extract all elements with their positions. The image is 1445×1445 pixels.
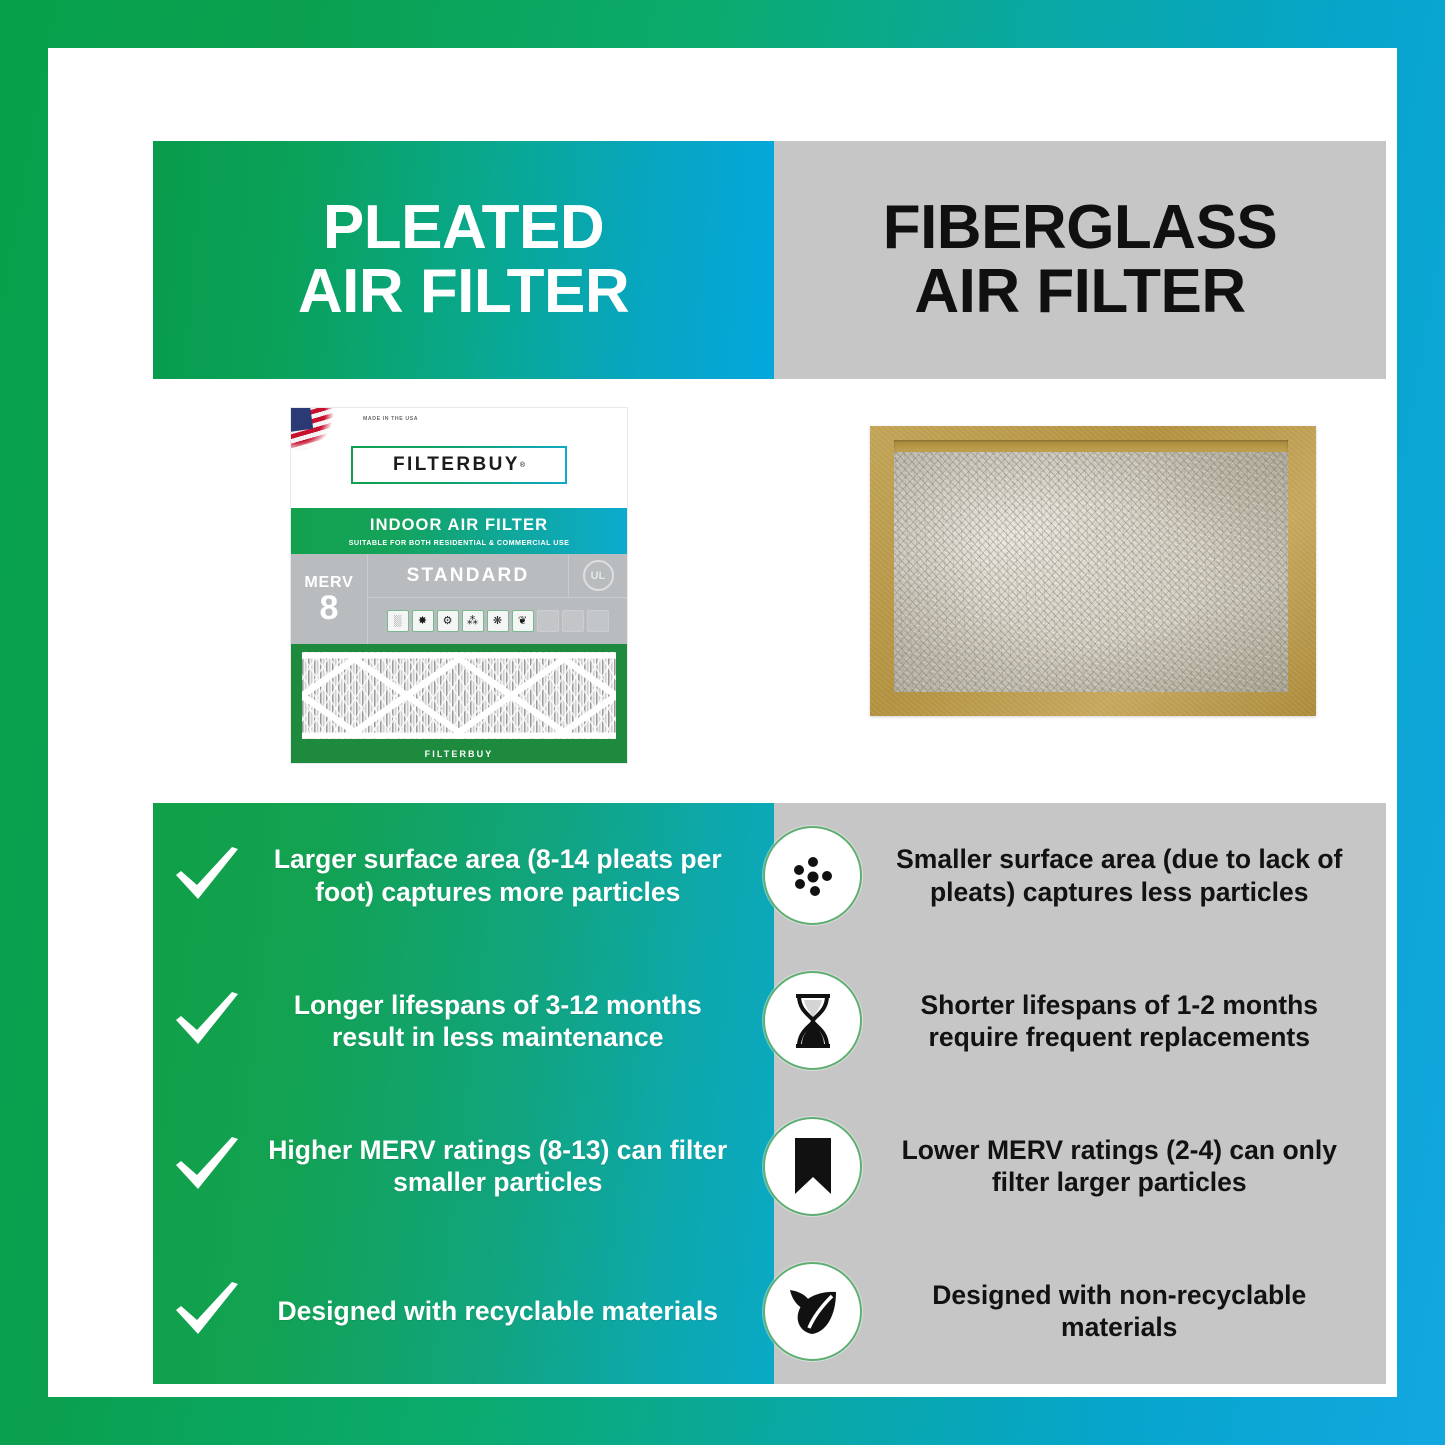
household-dust-icon: ░ — [387, 610, 409, 632]
row-icon-cell — [755, 1262, 871, 1361]
checkmark-icon — [172, 990, 242, 1052]
odor-icon: ♩ — [587, 610, 609, 632]
row-icon-cell — [755, 1117, 871, 1216]
pleat-texture — [302, 652, 616, 739]
hourglass-icon — [763, 971, 862, 1070]
fiberglass-media — [894, 452, 1288, 692]
checkmark-cell — [153, 1280, 261, 1342]
row-icon-cell — [755, 826, 871, 925]
white-canvas: PLEATED AIR FILTER FIBERGLASS AIR FILTER… — [48, 48, 1397, 1397]
merv-value: 8 — [320, 592, 339, 624]
fiberglass-drawback-text: Designed with non-recyclable materials — [871, 1279, 1387, 1344]
usa-flag-icon — [291, 408, 354, 454]
grade-label: STANDARD — [407, 565, 530, 587]
bacteria-icon: ⚙ — [437, 610, 459, 632]
checkmark-cell — [153, 1135, 261, 1197]
pleated-filter-box-image: MADE IN THE USA FILTERBUY® INDOOR AIR FI… — [291, 408, 627, 763]
indoor-air-filter-band: INDOOR AIR FILTER SUITABLE FOR BOTH RESI… — [291, 508, 627, 554]
comparison-row: Larger surface area (8-14 pleats per foo… — [153, 803, 1386, 948]
fiberglass-drawback-text: Lower MERV ratings (2-4) can only filter… — [871, 1134, 1387, 1199]
checkmark-cell — [153, 845, 261, 907]
bookmark-ribbon-icon — [763, 1117, 862, 1216]
bacteria-virus-icon: ❂ — [562, 610, 584, 632]
header-pleated-panel: PLEATED AIR FILTER — [153, 141, 774, 379]
checkmark-icon — [172, 1135, 242, 1197]
comparison-header: PLEATED AIR FILTER FIBERGLASS AIR FILTER — [153, 141, 1386, 379]
product-images-row: MADE IN THE USA FILTERBUY® INDOOR AIR FI… — [153, 379, 1386, 803]
infographic-content: PLEATED AIR FILTER FIBERGLASS AIR FILTER… — [153, 141, 1386, 1384]
cardboard-top-lip — [894, 440, 1288, 452]
leaf-icon — [763, 1262, 862, 1361]
row-icon-cell — [755, 971, 871, 1070]
smoke-icon: ⁂ — [462, 610, 484, 632]
smog-icon: ☁ — [537, 610, 559, 632]
band-secondary-text: SUITABLE FOR BOTH RESIDENTIAL & COMMERCI… — [349, 538, 570, 547]
brand-plate: FILTERBUY® — [351, 446, 567, 484]
pleated-media-window: FILTERBUY — [291, 644, 627, 763]
flag-canton — [291, 408, 313, 432]
pet-dander-icon: ❦ — [512, 610, 534, 632]
made-in-usa-label: MADE IN THE USA — [363, 416, 418, 424]
header-pleated-title: PLEATED AIR FILTER — [298, 196, 629, 325]
grade-cell: STANDARD — [368, 554, 569, 598]
trademark-symbol: ® — [520, 462, 525, 469]
box-footer-brand: FILTERBUY — [291, 749, 627, 759]
fiberglass-drawback-text: Shorter lifespans of 1-2 months require … — [871, 989, 1387, 1054]
lint-icon: ❋ — [487, 610, 509, 632]
comparison-row: Longer lifespans of 3-12 months result i… — [153, 948, 1386, 1093]
checkmark-icon — [172, 845, 242, 907]
box-top-section: MADE IN THE USA FILTERBUY® — [291, 408, 627, 508]
header-fiberglass-title: FIBERGLASS AIR FILTER — [883, 196, 1278, 325]
certification-cell: UL — [569, 554, 627, 598]
band-primary-text: INDOOR AIR FILTER — [370, 516, 548, 535]
checkmark-cell — [153, 990, 261, 1052]
comparison-rows: Larger surface area (8-14 pleats per foo… — [153, 803, 1386, 1384]
fiberglass-filter-image — [870, 426, 1316, 716]
pleated-benefit-text: Designed with recyclable materials — [261, 1295, 755, 1327]
particles-icon — [763, 826, 862, 925]
comparison-panel: Larger surface area (8-14 pleats per foo… — [153, 803, 1386, 1384]
checkmark-icon — [172, 1280, 242, 1342]
gradient-border-frame: PLEATED AIR FILTER FIBERGLASS AIR FILTER… — [0, 0, 1445, 1445]
merv-badge: MERV 8 — [291, 554, 368, 644]
fiberglass-drawback-text: Smaller surface area (due to lack of ple… — [871, 843, 1387, 908]
spec-band: MERV 8 STANDARD UL ░ ✸ ⚙ — [291, 554, 627, 644]
pollen-mold-spores-icon: ✸ — [412, 610, 434, 632]
header-fiberglass-panel: FIBERGLASS AIR FILTER — [774, 141, 1386, 379]
pleated-benefit-text: Higher MERV ratings (8-13) can filter sm… — [261, 1134, 755, 1199]
comparison-row: Designed with recyclable materials Desig… — [153, 1239, 1386, 1384]
ul-certification-icon: UL — [583, 560, 614, 591]
comparison-row: Higher MERV ratings (8-13) can filter sm… — [153, 1094, 1386, 1239]
brand-name: FILTERBUY — [393, 454, 520, 476]
pleated-benefit-text: Larger surface area (8-14 pleats per foo… — [261, 843, 755, 908]
pleated-benefit-text: Longer lifespans of 3-12 months result i… — [261, 989, 755, 1054]
particle-icon-strip: ░ ✸ ⚙ ⁂ ❋ ❦ ☁ ❂ ♩ — [368, 598, 627, 644]
